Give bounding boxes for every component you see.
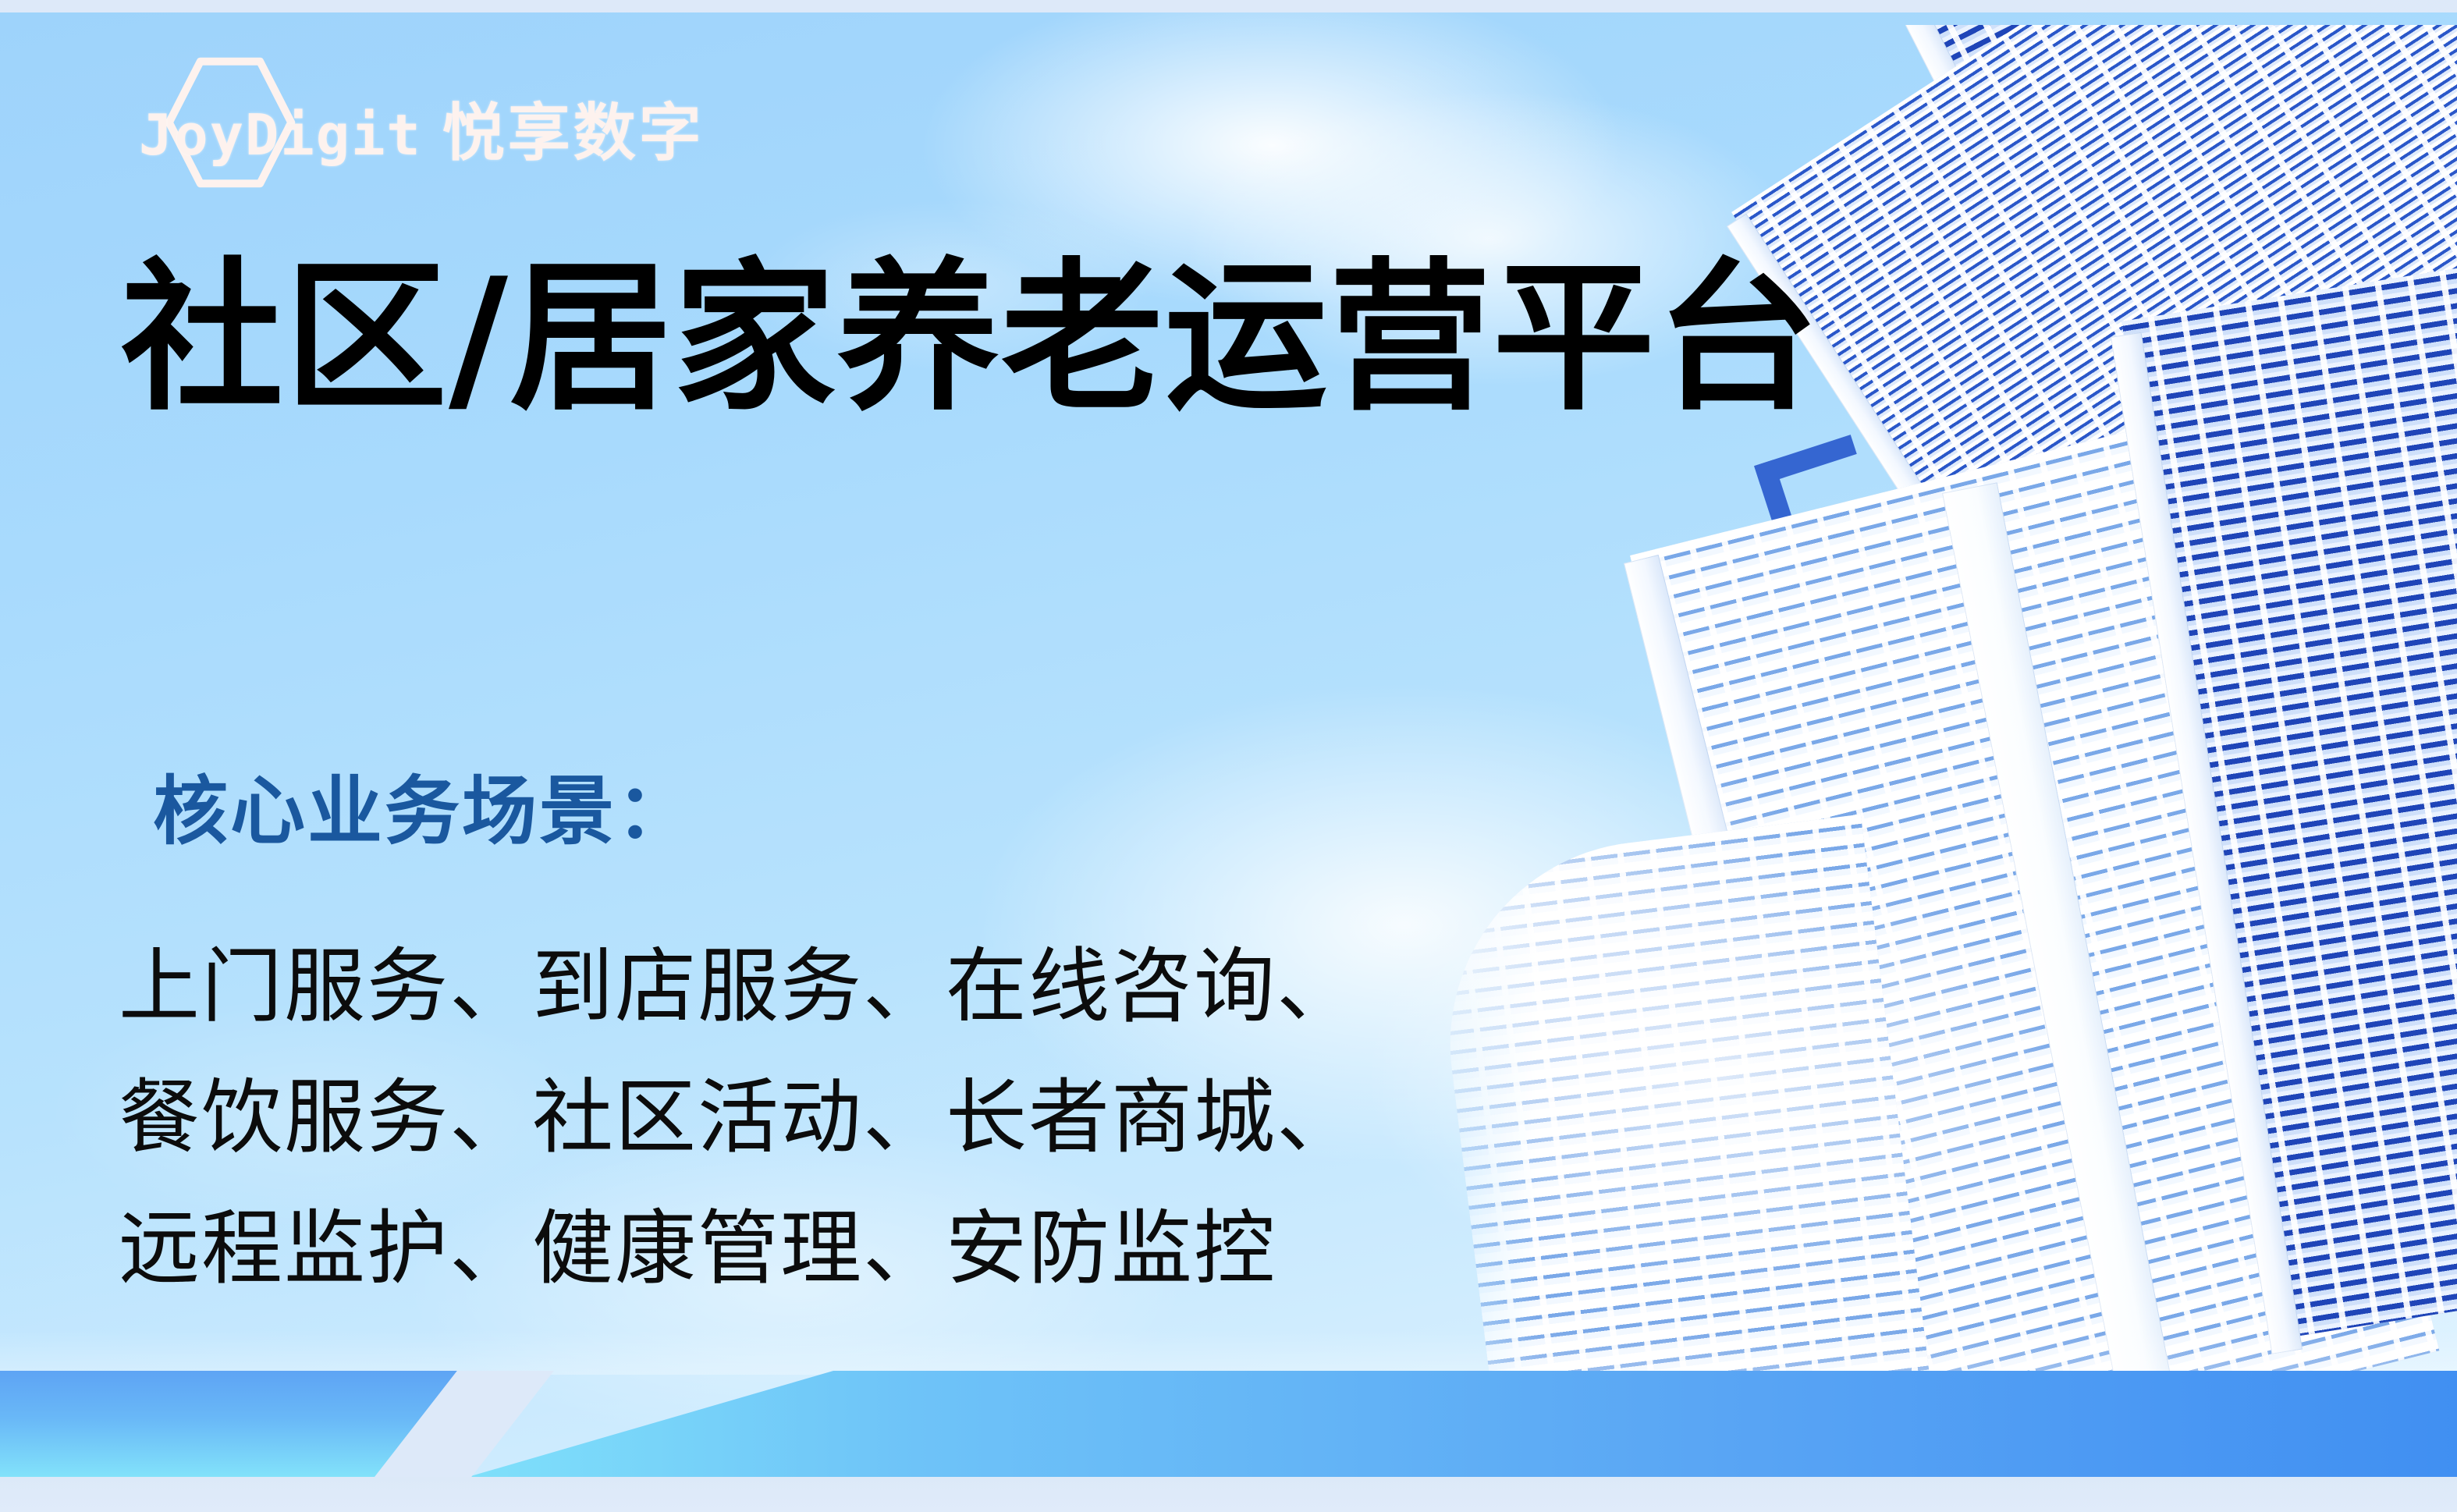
slide-root: JoyDigit 悦享数字 社区/居家养老运营平台 核心业务场景： 上门服务、到… — [0, 0, 2457, 1512]
section-heading: 核心业务场景： — [153, 774, 694, 849]
skyscraper-photo — [1396, 25, 2457, 1477]
scenario-line-2: 餐饮服务、社区活动、长者商城、 — [119, 1052, 1359, 1183]
page-title: 社区/居家养老运营平台 — [121, 257, 1820, 420]
brand-name-en: JoyDigit — [139, 102, 422, 168]
ribbon-glow — [0, 1329, 2457, 1375]
brand-logo[interactable]: JoyDigit 悦享数字 — [139, 55, 677, 152]
scenario-list: 上门服务、到店服务、在线咨询、 餐饮服务、社区活动、长者商城、 远程监护、健康管… — [119, 921, 1359, 1314]
ribbon-segment-right — [468, 1371, 2457, 1477]
bottom-ribbon — [0, 1371, 2457, 1477]
frame-edge-bottom — [0, 1477, 2457, 1512]
brand-name-cn: 悦享数字 — [442, 83, 705, 173]
scenario-line-1: 上门服务、到店服务、在线咨询、 — [119, 921, 1359, 1052]
frame-edge-top — [0, 0, 2457, 12]
scenario-line-3: 远程监护、健康管理、安防监控 — [119, 1183, 1359, 1314]
